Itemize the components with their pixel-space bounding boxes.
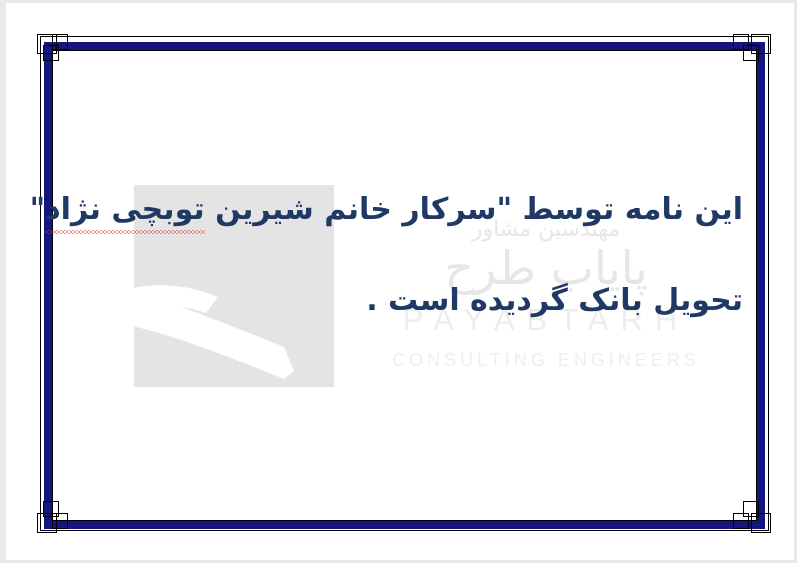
selection-handle-bottom-right-c[interactable] (733, 513, 749, 529)
letter-line-1-suffix: " (30, 192, 46, 227)
selection-handle-bottom-left-c[interactable] (52, 513, 68, 529)
selection-handle-top-right-c[interactable] (733, 34, 749, 50)
document-page-canvas: مهندسین مشاور پایاب طرح PAYABTARH CONSUL… (0, 0, 797, 563)
letter-text-body[interactable]: این نامه توسط "سرکار خانم شیرین توبچی نژ… (66, 181, 743, 330)
letter-line-2[interactable]: تحویل بانک گردیده است . (66, 272, 743, 331)
letter-line-1[interactable]: این نامه توسط "سرکار خانم شیرین توبچی نژ… (66, 181, 743, 240)
misspelled-word[interactable]: توبچی نژاد (45, 192, 204, 227)
selection-handle-top-left-c[interactable] (52, 34, 68, 50)
letter-line-1-prefix: این نامه توسط "سرکار خانم شیرین (205, 192, 743, 227)
